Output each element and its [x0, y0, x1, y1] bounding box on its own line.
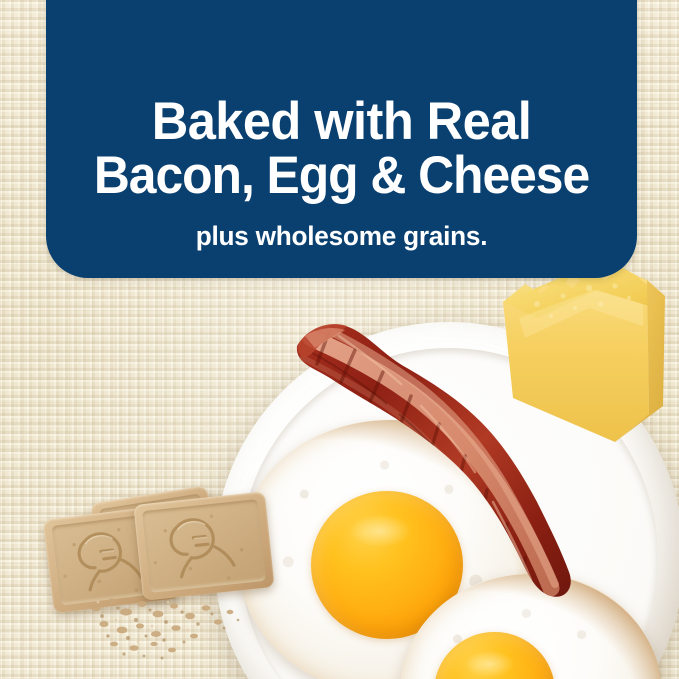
headline-subline: plus wholesome grains.: [55, 221, 628, 252]
headline-line-2: Bacon, Egg & Cheese: [64, 149, 620, 204]
dog-biscuit-right: [133, 491, 274, 600]
biscuit-crumbs: [78, 592, 268, 668]
dog-emboss-icon: [150, 506, 257, 585]
headline-line-1: Baked with Real: [59, 95, 623, 150]
product-hero-poster: Baked with Real Bacon, Egg & Cheese plus…: [0, 0, 679, 679]
biscuit-crumbs-svg: [78, 592, 268, 668]
bacon-strip-svg: [289, 306, 619, 606]
headline-text-block: Baked with Real Bacon, Egg & Cheese plus…: [46, 95, 637, 252]
headline-panel: Baked with Real Bacon, Egg & Cheese plus…: [46, 0, 637, 278]
egg-yolk-highlight: [465, 651, 513, 677]
bacon-strip: [289, 306, 619, 606]
